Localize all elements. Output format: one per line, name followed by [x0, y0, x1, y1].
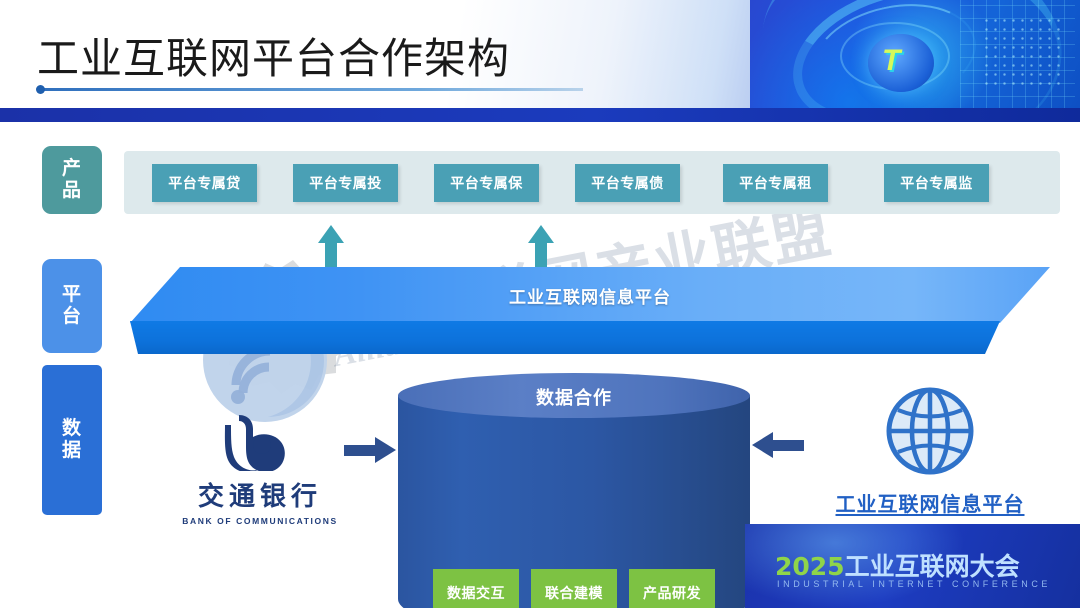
footer-title-cn: 工业互联网大会	[845, 552, 1020, 581]
arrow-shaft	[344, 445, 376, 456]
product-chip-custody[interactable]: 平台专属监	[884, 164, 989, 202]
category-chip-data: 数 据	[42, 365, 102, 515]
arrow-shaft	[772, 440, 804, 451]
product-chip-insurance[interactable]: 平台专属保	[434, 164, 539, 202]
slide-header: T 工业互联网平台合作架构	[0, 0, 1080, 122]
category-data-char-1: 数	[62, 418, 82, 440]
bank-of-communications-block: 交通银行 BANK OF COMMUNICATIONS	[180, 413, 340, 533]
bank-name-cn: 交通银行	[180, 476, 340, 513]
category-data-char-2: 据	[62, 440, 82, 462]
tech-core-sphere	[868, 34, 934, 92]
title-underline	[38, 88, 583, 91]
page-title: 工业互联网平台合作架构	[37, 25, 510, 86]
bank-of-communications-logo-icon	[213, 413, 307, 471]
category-product-char-2: 品	[62, 180, 82, 202]
platform-mark-block: 工业互联网信息平台	[835, 383, 1025, 517]
arrow-platform-mark-to-cylinder	[752, 432, 804, 458]
slide-canvas: T 工业互联网平台合作架构 工业互联网产业联盟 Alliance of Indu…	[0, 0, 1080, 608]
footer-year: 2025	[775, 552, 845, 581]
arrow-bank-to-cylinder	[344, 437, 396, 463]
category-chip-platform: 平 台	[42, 259, 102, 353]
category-chip-product: 产 品	[42, 146, 102, 214]
product-chip-loan[interactable]: 平台专属贷	[152, 164, 257, 202]
platform-slab-front-face	[130, 321, 1000, 354]
category-platform-char-1: 平	[62, 284, 82, 306]
product-chip-bond[interactable]: 平台专属债	[575, 164, 680, 202]
data-cooperation-cylinder: 数据合作 数据交互 联合建模 产品研发	[398, 373, 750, 608]
title-underline-dot	[36, 85, 45, 94]
footer-title: 2025工业互联网大会	[775, 547, 1020, 583]
header-accent-bar	[0, 108, 1080, 122]
conference-footer-badge: 2025工业互联网大会 INDUSTRIAL INTERNET CONFEREN…	[745, 524, 1080, 608]
capability-chip-product-rnd[interactable]: 产品研发	[629, 569, 715, 608]
arrow-head	[752, 432, 773, 458]
arrow-head	[375, 437, 396, 463]
category-platform-char-2: 台	[62, 306, 82, 328]
brand-t-logo: T	[882, 44, 898, 78]
platform-slab: 工业互联网信息平台	[130, 267, 1050, 358]
tech-decoration-graphic: T	[750, 0, 1080, 122]
bank-name-en: BANK OF COMMUNICATIONS	[180, 516, 340, 526]
arrow-head	[318, 225, 344, 243]
category-product-char-1: 产	[62, 158, 82, 180]
globe-icon	[882, 383, 978, 479]
product-chip-investment[interactable]: 平台专属投	[293, 164, 398, 202]
platform-slab-label: 工业互联网信息平台	[130, 283, 1050, 308]
capability-chip-data-exchange[interactable]: 数据交互	[433, 569, 519, 608]
product-chip-lease[interactable]: 平台专属租	[723, 164, 828, 202]
footer-subtitle: INDUSTRIAL INTERNET CONFERENCE	[777, 579, 1051, 589]
platform-mark-label: 工业互联网信息平台	[835, 488, 1025, 517]
capability-chip-joint-modeling[interactable]: 联合建模	[531, 569, 617, 608]
cylinder-title: 数据合作	[398, 384, 750, 410]
arrow-head	[528, 225, 554, 243]
